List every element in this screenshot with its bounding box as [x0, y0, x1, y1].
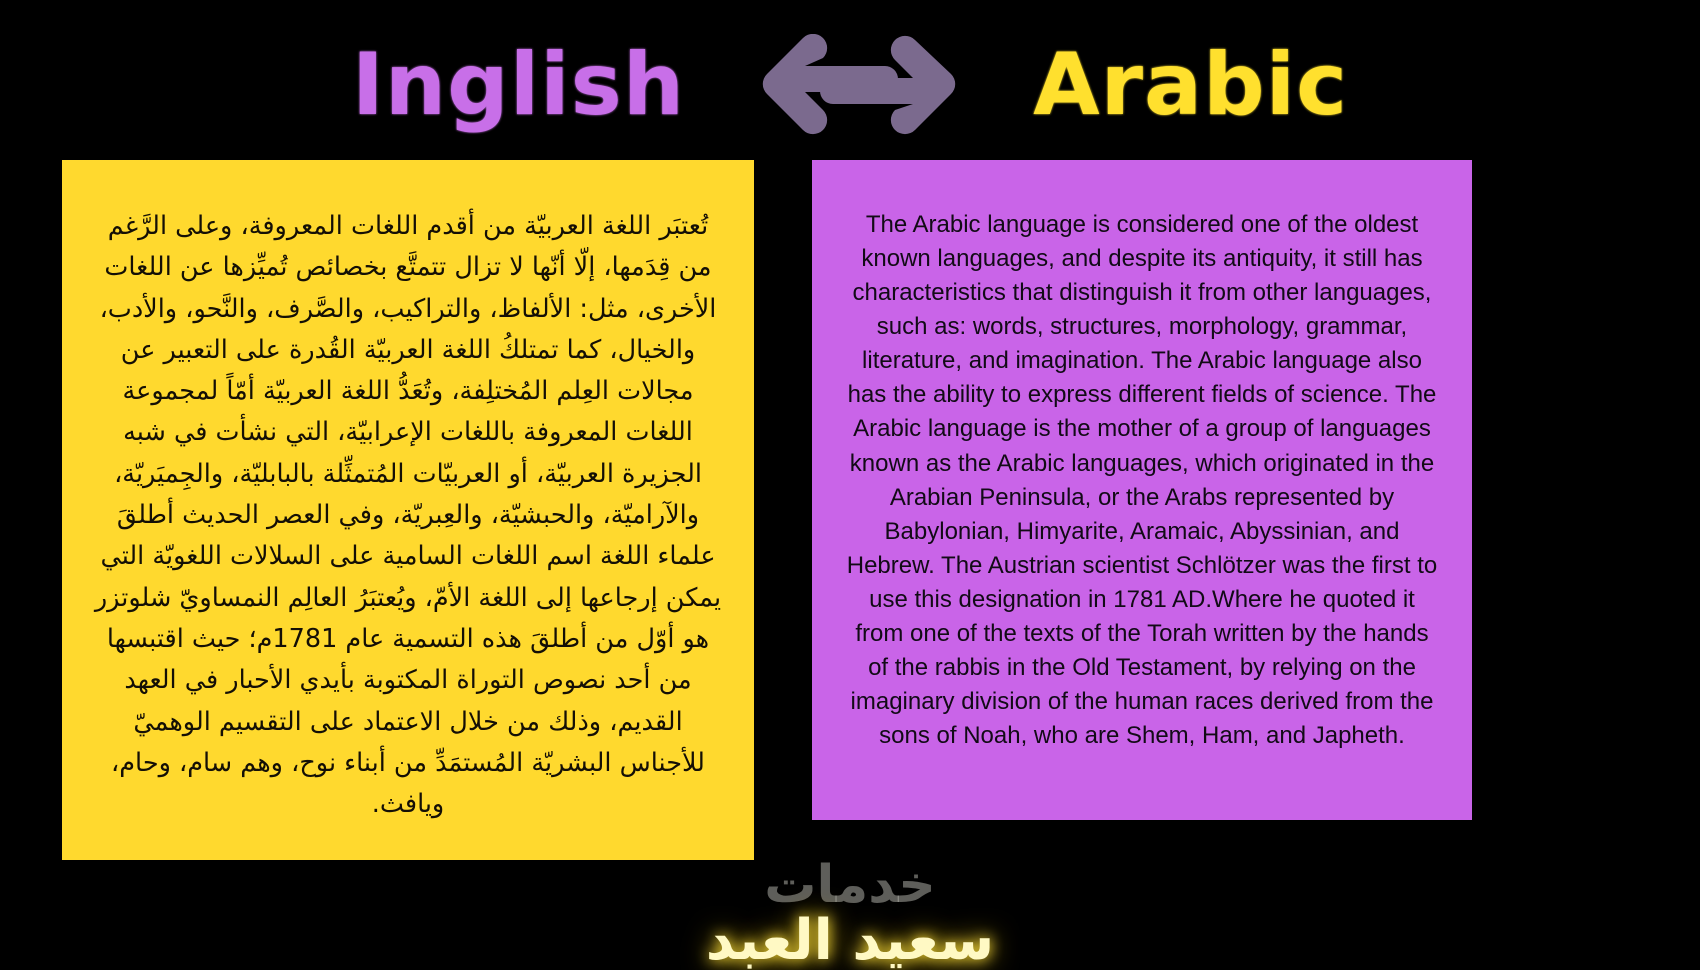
watermark-line-1: خدمات [764, 859, 936, 911]
english-text-panel: The Arabic language is considered one of… [812, 160, 1472, 820]
arabic-text-panel: تُعتبَر اللغة العربيّة من أقدم اللغات ال… [62, 160, 754, 860]
page-title-left: Inglish [352, 42, 685, 128]
watermark: خدمات سعيد العبد [0, 855, 1700, 970]
poster-header: Inglish Arabic [0, 22, 1700, 147]
arabic-body-text: تُعتبَر اللغة العربيّة من أقدم اللغات ال… [92, 206, 724, 825]
page-title-right: Arabic [1033, 42, 1348, 128]
watermark-line-2: سعيد العبد [706, 913, 994, 969]
content-panels: تُعتبَر اللغة العربيّة من أقدم اللغات ال… [0, 160, 1700, 860]
bidirectional-arrows-icon [743, 34, 975, 136]
poster-canvas: Inglish Arabic تُعتبَر اللغة العربيّة من… [0, 0, 1700, 970]
english-body-text: The Arabic language is considered one of… [844, 208, 1440, 753]
